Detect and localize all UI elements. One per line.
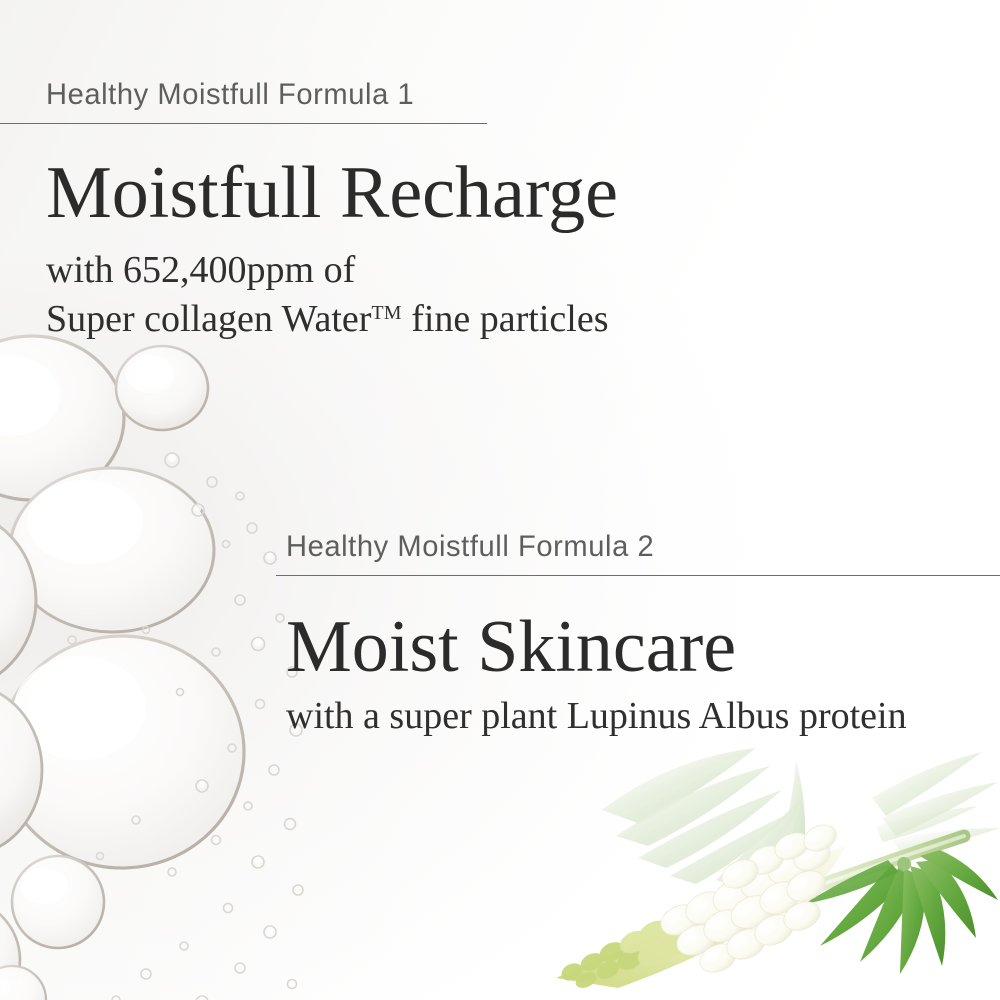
formula-2-section: Healthy Moistfull Formula 2 Moist Skinca… (276, 530, 1000, 741)
formula-2-eyebrow: Healthy Moistfull Formula 2 (286, 530, 979, 564)
lupinus-albus-flower (520, 740, 1000, 1000)
formula-1-subline: with 652,400ppm of Super collagen WaterT… (46, 246, 760, 343)
formula-2-headline: Moist Skincare (286, 610, 1000, 684)
formula-1-subline-line-2: Super collagen Water (46, 298, 371, 340)
formula-1-subline-line-2-tail: fine particles (402, 298, 609, 340)
formula-1-headline: Moistfull Recharge (46, 156, 760, 230)
formula-1-divider (0, 123, 487, 124)
product-detail-banner: Healthy Moistfull Formula 1 Moistfull Re… (0, 0, 1000, 1000)
formula-2-divider (276, 575, 1000, 576)
formula-1-subline-line-1: with 652,400ppm of (46, 249, 355, 291)
formula-1-eyebrow: Healthy Moistfull Formula 1 (46, 78, 739, 112)
formula-2-subline: with a super plant Lupinus Albus protein (286, 692, 1000, 741)
trademark-symbol: TM (371, 301, 401, 323)
formula-1-section: Healthy Moistfull Formula 1 Moistfull Re… (0, 78, 760, 343)
